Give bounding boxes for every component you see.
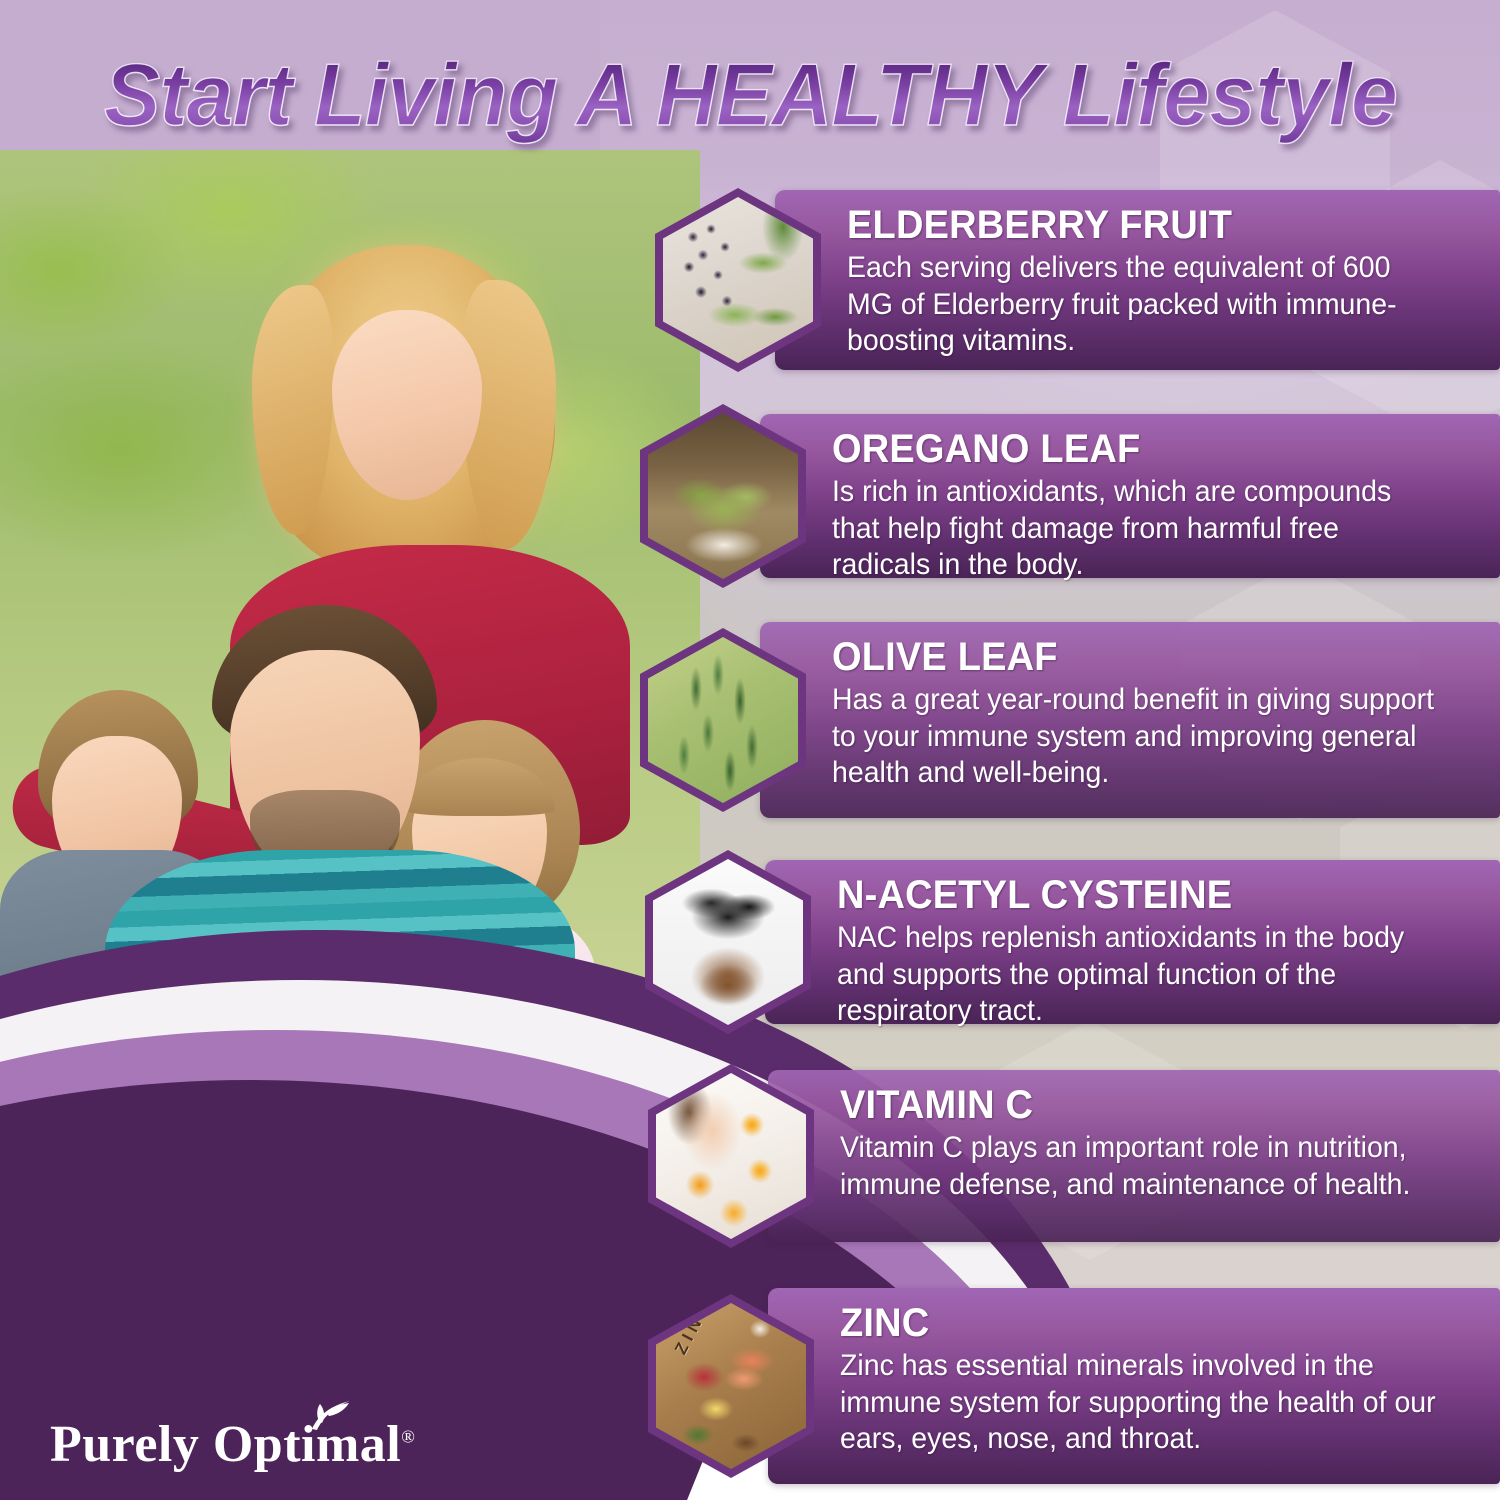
ingredient-description: NAC helps replenish antioxidants in the …: [837, 920, 1436, 1030]
hexagon-photo-content: [648, 637, 798, 803]
ingredient-description: Zinc has essential minerals involved in …: [840, 1348, 1437, 1458]
card-text-block: N-ACETYL CYSTEINENAC helps replenish ant…: [837, 860, 1492, 1030]
ingredient-title: OREGANO LEAF: [832, 428, 1436, 470]
ingredient-description: Is rich in antioxidants, which are compo…: [832, 474, 1436, 584]
ingredient-title: VITAMIN C: [840, 1084, 1437, 1126]
ingredient-title: N-ACETYL CYSTEINE: [837, 874, 1436, 916]
olive-leaf-hexagon-image: [648, 637, 798, 803]
hexagon-photo-content: [648, 413, 798, 579]
ingredient-description: Has a great year-round benefit in giving…: [832, 682, 1436, 792]
oregano-leaf-hexagon-image: [648, 413, 798, 579]
page-title: Start Living A HEALTHY Lifestyle: [104, 44, 1397, 146]
card-text-block: OREGANO LEAFIs rich in antioxidants, whi…: [832, 414, 1492, 584]
vitamin-c-hexagon-image: [656, 1073, 806, 1239]
leaf-sprig-icon: [308, 1399, 352, 1433]
ingredient-description: Each serving delivers the equivalent of …: [847, 250, 1437, 360]
registered-trademark: ®: [401, 1427, 415, 1447]
ingredient-card: ZINCZINCZinc has essential minerals invo…: [648, 1288, 1500, 1484]
ingredient-card: VITAMIN CVitamin C plays an important ro…: [648, 1070, 1500, 1242]
hexagon-photo-content: [656, 1073, 806, 1239]
hexagon-photo-content: [653, 859, 803, 1025]
infographic-canvas: Start Living A HEALTHY Lifestyle ELDERBE…: [0, 0, 1500, 1500]
card-text-block: VITAMIN CVitamin C plays an important ro…: [840, 1070, 1492, 1203]
ingredient-title: ZINC: [840, 1302, 1437, 1344]
hexagon-photo-content: [663, 197, 813, 363]
zinc-hexagon-image: ZINC: [656, 1303, 806, 1469]
ingredient-card: OLIVE LEAFHas a great year-round benefit…: [640, 622, 1500, 818]
ingredient-title: ELDERBERRY FRUIT: [847, 204, 1437, 246]
ingredient-description: Vitamin C plays an important role in nut…: [840, 1130, 1437, 1203]
ingredient-card: ELDERBERRY FRUITEach serving delivers th…: [655, 190, 1500, 370]
elderberry-hexagon-image: [663, 197, 813, 363]
hexagon-photo-content: [656, 1303, 806, 1469]
ingredient-card: N-ACETYL CYSTEINENAC helps replenish ant…: [645, 860, 1500, 1024]
card-text-block: ELDERBERRY FRUITEach serving delivers th…: [847, 190, 1492, 360]
n-acetyl-cysteine-hexagon-image: [653, 859, 803, 1025]
brand-logo: Purely Optimal®: [50, 1415, 415, 1474]
headline-container: Start Living A HEALTHY Lifestyle: [0, 44, 1500, 144]
card-text-block: ZINCZinc has essential minerals involved…: [840, 1288, 1492, 1458]
ingredient-card: OREGANO LEAFIs rich in antioxidants, whi…: [640, 414, 1500, 578]
ingredient-title: OLIVE LEAF: [832, 636, 1436, 678]
card-text-block: OLIVE LEAFHas a great year-round benefit…: [832, 622, 1492, 792]
